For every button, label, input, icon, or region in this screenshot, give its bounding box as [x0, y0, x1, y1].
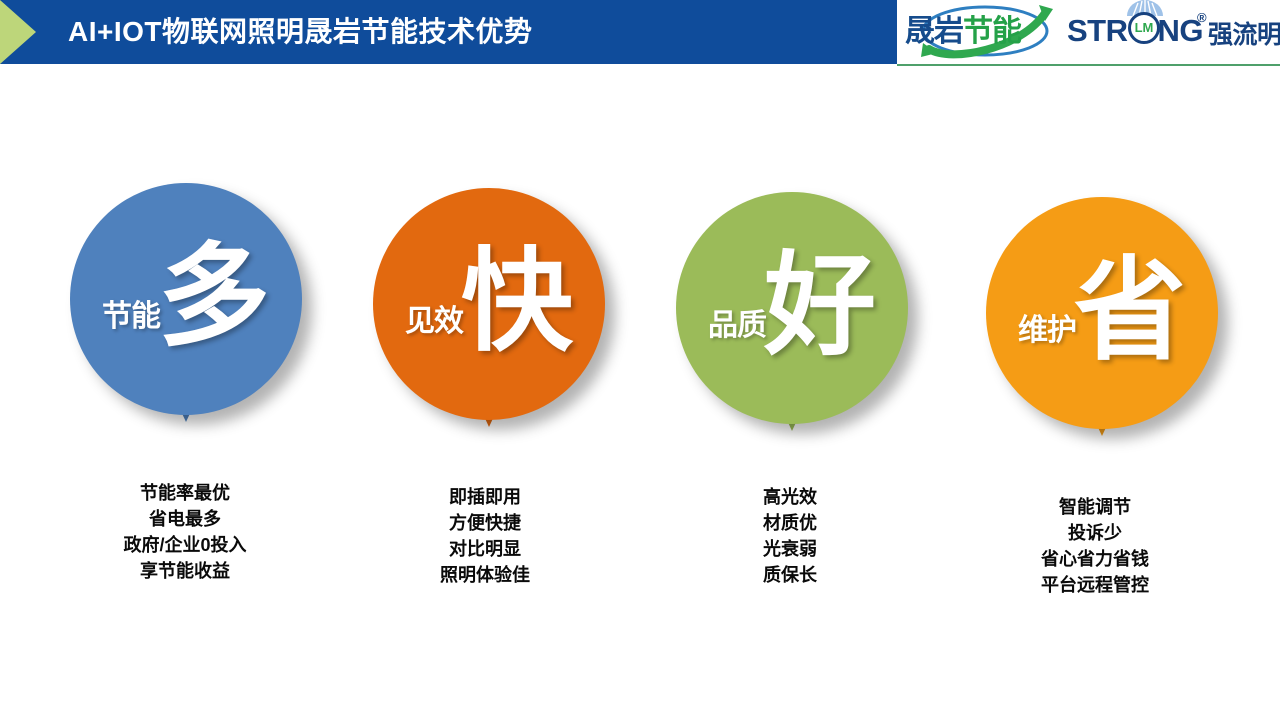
feature-item: 高光效	[660, 484, 920, 510]
bubble-label-group-2: 见效快	[373, 188, 605, 420]
logo-lm-label: LM	[1128, 12, 1160, 44]
logo-brand-part1: STR	[1067, 13, 1128, 48]
bubble-small-label-4: 维护	[1018, 305, 1076, 349]
feature-item: 节能率最优	[55, 480, 315, 506]
feature-item: 即插即用	[355, 484, 615, 510]
bubble-big-label-3: 好	[764, 250, 876, 362]
benefit-bubble-1[interactable]: 节能多	[70, 183, 302, 415]
bubble-big-label-2: 快	[461, 246, 573, 358]
bubble-small-label-2: 见效	[405, 296, 463, 340]
bubble-label-group-1: 节能多	[70, 183, 302, 415]
logo-inner: 晟岩节能 STRNG LM ® 强流明照明	[897, 0, 1280, 62]
feature-item: 省心省力省钱	[965, 546, 1225, 572]
feature-item: 光衰弱	[660, 536, 920, 562]
feature-list-2: 即插即用 方便快捷 对比明显 照明体验佳	[355, 484, 615, 588]
benefit-bubble-2[interactable]: 见效快	[373, 188, 605, 420]
registered-trademark-icon: ®	[1197, 10, 1207, 25]
feature-list-1: 节能率最优 省电最多 政府/企业0投入 享节能收益	[55, 480, 315, 584]
feature-item: 政府/企业0投入	[55, 532, 315, 558]
bubble-big-label-1: 多	[158, 241, 270, 353]
benefit-bubble-4[interactable]: 维护省	[986, 197, 1218, 429]
bubble-small-label-1: 节能	[102, 291, 160, 335]
logo-cn-green: 节能	[963, 15, 1021, 48]
feature-item: 照明体验佳	[355, 562, 615, 588]
feature-item: 材质优	[660, 510, 920, 536]
bubble-big-label-4: 省	[1074, 255, 1186, 367]
logo-chinese-name: 晟岩节能	[905, 12, 1065, 52]
feature-item: 智能调节	[965, 494, 1225, 520]
feature-item: 投诉少	[965, 520, 1225, 546]
page-title: AI+IOT物联网照明晟岩节能技术优势	[68, 0, 533, 64]
feature-item: 平台远程管控	[965, 572, 1225, 598]
company-logo: 晟岩节能 STRNG LM ® 强流明照明	[897, 0, 1280, 66]
feature-item: 省电最多	[55, 506, 315, 532]
feature-item: 对比明显	[355, 536, 615, 562]
bubble-label-group-3: 品质好	[676, 192, 908, 424]
feature-list-3: 高光效 材质优 光衰弱 质保长	[660, 484, 920, 588]
feature-list-4: 智能调节 投诉少 省心省力省钱 平台远程管控	[965, 494, 1225, 598]
bubble-label-group-4: 维护省	[986, 197, 1218, 429]
benefit-bubble-3[interactable]: 品质好	[676, 192, 908, 424]
logo-cn-dark: 晟岩	[905, 15, 963, 48]
logo-chinese-tagline: 强流明照明	[1208, 15, 1280, 51]
feature-item: 方便快捷	[355, 510, 615, 536]
bubble-small-label-3: 品质	[708, 300, 766, 344]
feature-item: 享节能收益	[55, 558, 315, 584]
feature-item: 质保长	[660, 562, 920, 588]
